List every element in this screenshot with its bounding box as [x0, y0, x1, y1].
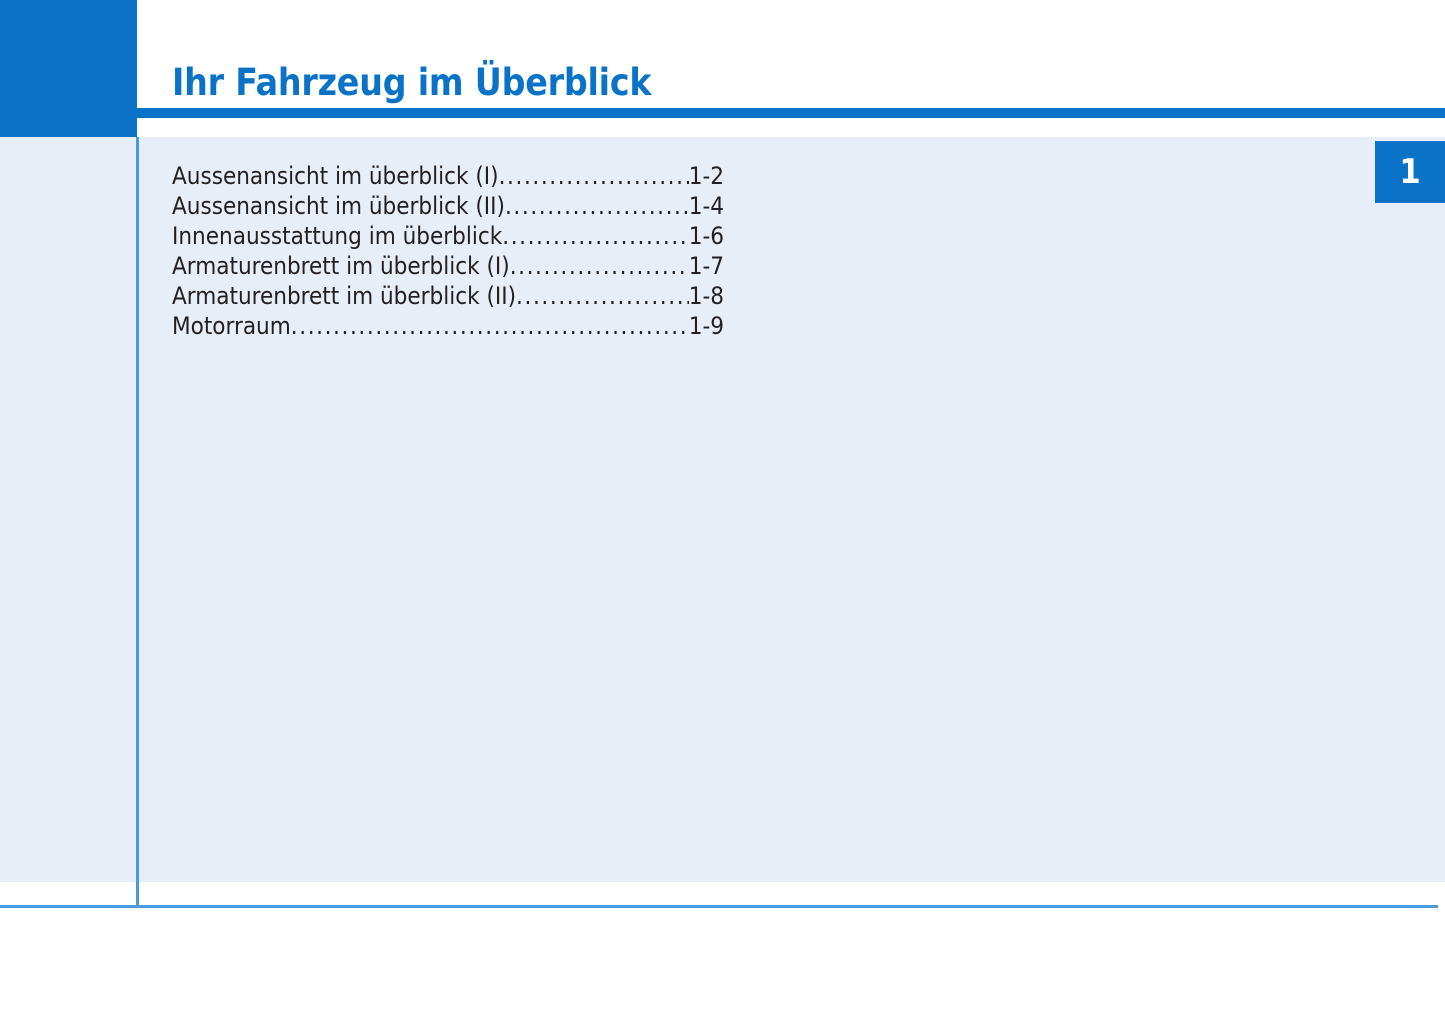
manual-page: Ihr Fahrzeug im Überblick 1 Aussenansich… — [0, 0, 1445, 1018]
toc-dot-leader: ........................................… — [510, 252, 689, 280]
toc-page-number: 1-4 — [689, 192, 724, 220]
toc-entry-label: Armaturenbrett im überblick (I) — [172, 252, 510, 280]
vertical-divider — [136, 137, 139, 908]
toc-entry-label: Aussenansicht im überblick (I) — [172, 162, 499, 190]
corner-blue-block — [0, 0, 137, 137]
toc-page-number: 1-7 — [689, 252, 724, 280]
toc-entry-label: Innenausstattung im überblick — [172, 222, 502, 250]
toc-entry[interactable]: Aussenansicht im überblick (I) .........… — [172, 162, 724, 192]
table-of-contents: Aussenansicht im überblick (I) .........… — [172, 162, 724, 342]
footer-rule — [0, 905, 1438, 908]
page-title: Ihr Fahrzeug im Überblick — [172, 64, 651, 101]
toc-page-number: 1-6 — [689, 222, 724, 250]
toc-entry[interactable]: Aussenansicht im überblick (II) ........… — [172, 192, 724, 222]
toc-entry[interactable]: Armaturenbrett im überblick (II) .......… — [172, 282, 724, 312]
toc-page-number: 1-9 — [689, 312, 724, 340]
toc-entry-label: Armaturenbrett im überblick (II) — [172, 282, 516, 310]
toc-dot-leader: ........................................… — [502, 222, 689, 250]
toc-dot-leader: ........................................… — [291, 312, 689, 340]
toc-entry[interactable]: Armaturenbrett im überblick (I) ........… — [172, 252, 724, 282]
toc-dot-leader: ........................................… — [505, 192, 689, 220]
chapter-number-label: 1 — [1375, 155, 1445, 189]
toc-dot-leader: ........................................… — [499, 162, 689, 190]
toc-page-number: 1-2 — [689, 162, 724, 190]
toc-entry-label: Motorraum — [172, 312, 291, 340]
toc-dot-leader: ........................................… — [516, 282, 689, 310]
toc-entry[interactable]: Motorraum ..............................… — [172, 312, 724, 342]
chapter-index-tab[interactable]: 1 — [1375, 141, 1445, 203]
header-underline — [137, 108, 1445, 118]
toc-page-number: 1-8 — [689, 282, 724, 310]
toc-entry-label: Aussenansicht im überblick (II) — [172, 192, 505, 220]
toc-entry[interactable]: Innenausstattung im überblick ..........… — [172, 222, 724, 252]
